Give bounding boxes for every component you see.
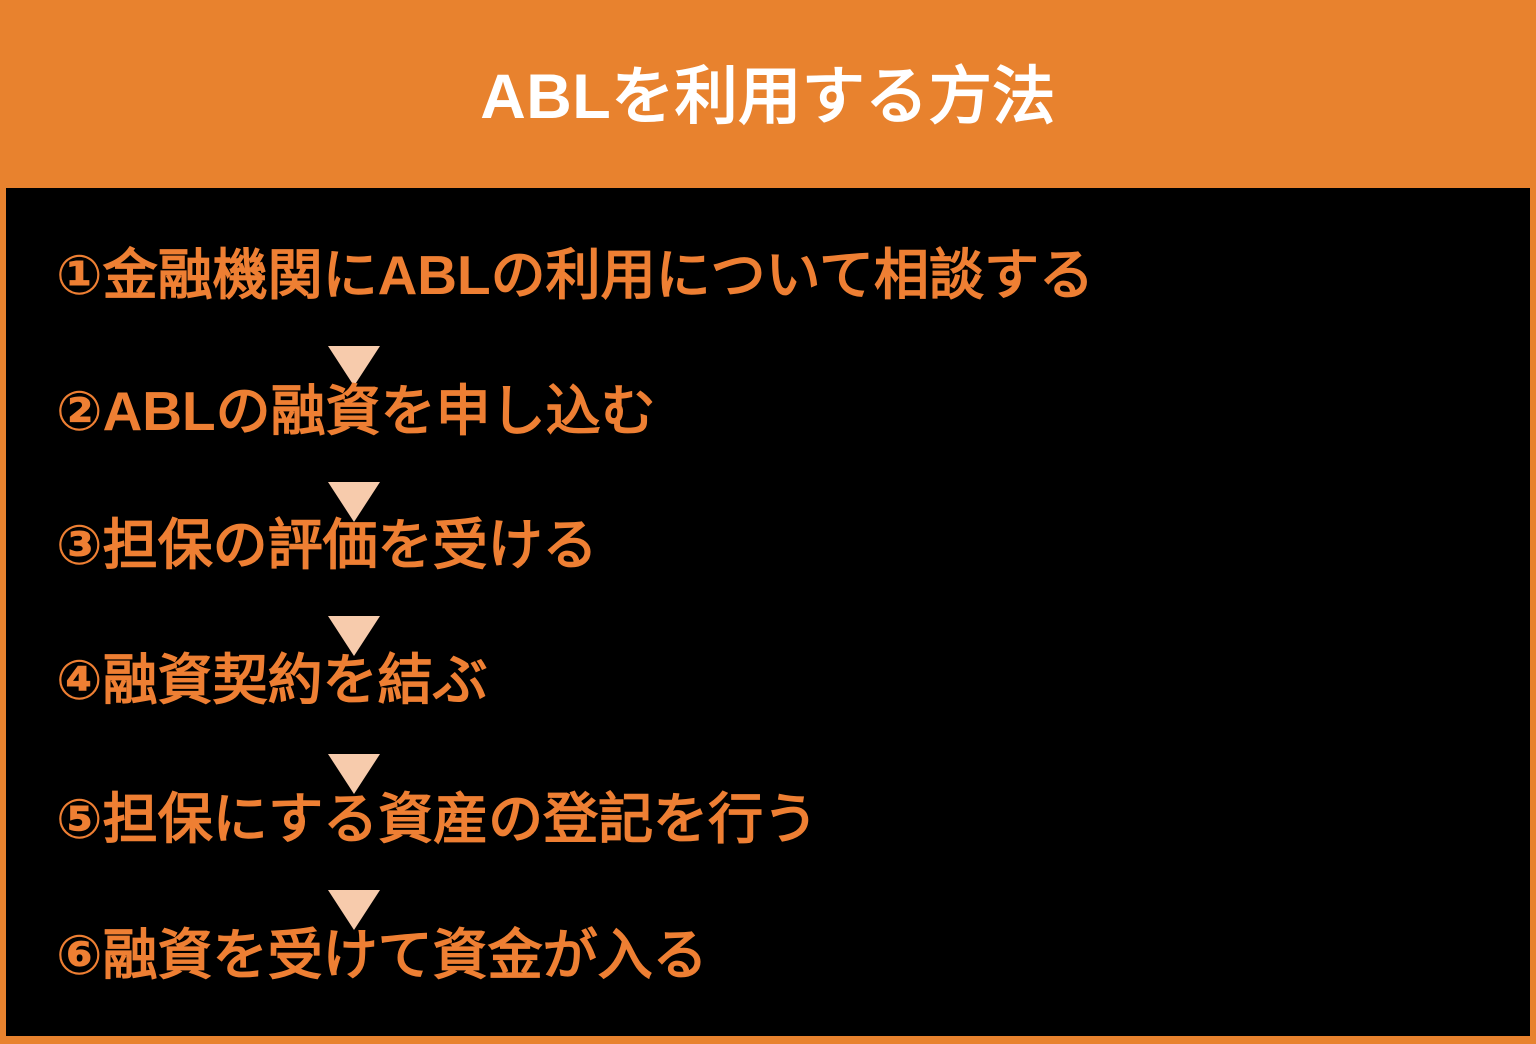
flow-panel: ①金融機関にABLの利用について相談する ②ABLの融資を申し込む ③担保の評価… — [0, 188, 1536, 1044]
flow-step-3: ③担保の評価を受ける — [56, 514, 598, 576]
flow-step-6: ⑥融資を受けて資金が入る — [56, 924, 708, 986]
flow-step-1: ①金融機関にABLの利用について相談する — [56, 244, 1094, 306]
flow-step-5: ⑤担保にする資産の登記を行う — [56, 788, 818, 850]
page-title: ABLを利用する方法 — [480, 66, 1055, 129]
flow-step-2: ②ABLの融資を申し込む — [56, 380, 656, 442]
flow-step-4: ④融資契約を結ぶ — [56, 649, 488, 711]
slide-root: ABLを利用する方法 ①金融機関にABLの利用について相談する ②ABLの融資を… — [0, 0, 1536, 1044]
flow-list: ①金融機関にABLの利用について相談する ②ABLの融資を申し込む ③担保の評価… — [6, 188, 1530, 1036]
header-band: ABLを利用する方法 — [0, 0, 1536, 188]
